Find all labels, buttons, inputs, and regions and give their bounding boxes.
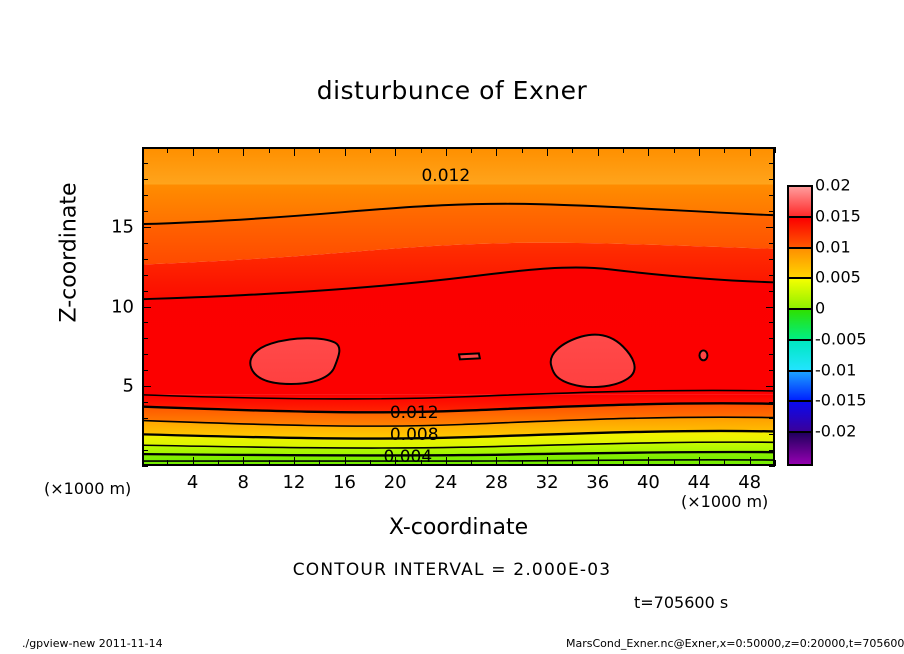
y-tick-left xyxy=(142,386,151,387)
colorbar-band xyxy=(789,218,811,249)
x-tick-bottom xyxy=(648,457,649,466)
x-tick-bottom xyxy=(724,460,725,466)
y-tick-left xyxy=(142,354,148,355)
x-tick-bottom xyxy=(522,460,523,466)
y-tick-right xyxy=(769,466,775,467)
x-tick-top xyxy=(623,147,624,153)
colorbar-band xyxy=(789,341,811,372)
colorbar-tick-label: 0.015 xyxy=(815,206,861,225)
y-tick-left xyxy=(142,179,148,180)
y-tick-right xyxy=(769,147,775,148)
x-tick-bottom xyxy=(446,457,447,466)
y-tick-right xyxy=(766,227,775,228)
x-tick-top xyxy=(471,147,472,153)
x-tick-label: 20 xyxy=(384,472,407,493)
y-tick-left xyxy=(142,322,148,323)
y-tick-right xyxy=(766,386,775,387)
x-tick-top xyxy=(243,147,244,156)
x-tick-bottom xyxy=(167,460,168,466)
contour-label: 0.008 xyxy=(390,425,439,445)
colorbar-tick-label: -0.005 xyxy=(815,329,867,348)
x-tick-bottom xyxy=(699,457,700,466)
y-tick-right xyxy=(766,307,775,308)
y-tick-left xyxy=(142,243,148,244)
y-axis-title: Z-coordinate xyxy=(57,143,82,363)
x-tick-bottom xyxy=(623,460,624,466)
x-tick-top xyxy=(522,147,523,153)
x-tick-top xyxy=(699,147,700,156)
y-tick-label: 10 xyxy=(94,296,134,317)
colorbar-tick-label: -0.01 xyxy=(815,360,856,379)
x-axis-unit-right: (×1000 m) xyxy=(681,492,768,511)
y-tick-left xyxy=(142,147,148,148)
x-tick-top xyxy=(572,147,573,153)
y-tick-left xyxy=(142,402,148,403)
x-tick-bottom xyxy=(269,460,270,466)
x-tick-top xyxy=(294,147,295,156)
y-tick-left xyxy=(142,338,148,339)
x-tick-top xyxy=(648,147,649,156)
x-tick-bottom xyxy=(471,460,472,466)
y-tick-right xyxy=(769,450,775,451)
y-tick-left xyxy=(142,259,148,260)
y-tick-right xyxy=(769,322,775,323)
y-tick-label: 15 xyxy=(94,216,134,237)
colorbar-tick-label: 0.02 xyxy=(815,176,851,195)
x-tick-label: 16 xyxy=(333,472,356,493)
y-tick-right xyxy=(769,418,775,419)
x-tick-label: 40 xyxy=(637,472,660,493)
y-tick-right xyxy=(769,291,775,292)
colorbar-band xyxy=(789,433,811,464)
y-tick-left xyxy=(142,227,151,228)
y-tick-label: 5 xyxy=(94,376,134,397)
colorbar-band xyxy=(789,310,811,341)
x-tick-top xyxy=(598,147,599,156)
colorbar-band xyxy=(789,402,811,433)
y-tick-left xyxy=(142,450,148,451)
x-tick-bottom xyxy=(319,460,320,466)
x-tick-bottom xyxy=(674,460,675,466)
x-tick-bottom xyxy=(775,460,776,466)
contour-label: 0.012 xyxy=(390,403,439,423)
x-tick-bottom xyxy=(598,457,599,466)
y-tick-left xyxy=(142,434,148,435)
x-tick-label: 8 xyxy=(238,472,249,493)
x-tick-top xyxy=(496,147,497,156)
y-tick-left xyxy=(142,370,148,371)
contour-label: 0.012 xyxy=(421,166,470,186)
page-title: disturbunce of Exner xyxy=(0,76,904,105)
y-tick-left xyxy=(142,418,148,419)
colorbar xyxy=(787,185,813,466)
x-tick-label: 12 xyxy=(282,472,305,493)
x-tick-top xyxy=(370,147,371,153)
x-tick-top xyxy=(395,147,396,156)
x-tick-bottom xyxy=(193,457,194,466)
y-tick-left xyxy=(142,307,151,308)
footer-source: MarsCond_Exner.nc@Exner,x=0:50000,z=0:20… xyxy=(566,637,904,650)
x-tick-top xyxy=(750,147,751,156)
y-tick-right xyxy=(769,163,775,164)
contour-interval-note: CONTOUR INTERVAL = 2.000E-03 xyxy=(0,560,904,580)
y-tick-right xyxy=(769,179,775,180)
colorbar-band xyxy=(789,279,811,310)
x-tick-bottom xyxy=(547,457,548,466)
x-tick-top xyxy=(193,147,194,156)
colorbar-tick-label: 0 xyxy=(815,299,825,318)
colorbar-tick-label: -0.015 xyxy=(815,391,867,410)
y-tick-right xyxy=(769,434,775,435)
x-tick-top xyxy=(724,147,725,153)
time-label: t=705600 s xyxy=(634,593,728,612)
x-tick-top xyxy=(269,147,270,153)
contour-max-blob-small-center xyxy=(459,353,480,359)
x-tick-top xyxy=(446,147,447,156)
plot-area xyxy=(142,147,775,466)
x-tick-top xyxy=(547,147,548,156)
x-tick-top xyxy=(167,147,168,153)
y-tick-right xyxy=(769,243,775,244)
x-tick-bottom xyxy=(243,457,244,466)
y-tick-left xyxy=(142,195,148,196)
colorbar-band xyxy=(789,187,811,218)
x-tick-label: 4 xyxy=(187,472,198,493)
x-tick-label: 32 xyxy=(536,472,559,493)
y-tick-right xyxy=(769,402,775,403)
x-tick-top xyxy=(345,147,346,156)
y-tick-right xyxy=(769,259,775,260)
x-tick-top xyxy=(775,147,776,153)
y-tick-left xyxy=(142,466,148,467)
x-tick-bottom xyxy=(496,457,497,466)
x-tick-label: 44 xyxy=(688,472,711,493)
footer-command: ./gpview-new 2011-11-14 xyxy=(22,637,163,650)
x-tick-bottom xyxy=(750,457,751,466)
y-tick-right xyxy=(769,370,775,371)
x-tick-label: 28 xyxy=(485,472,508,493)
y-tick-left xyxy=(142,275,148,276)
y-tick-right xyxy=(769,211,775,212)
x-tick-top xyxy=(674,147,675,153)
y-tick-right xyxy=(769,195,775,196)
y-tick-right xyxy=(769,354,775,355)
colorbar-band xyxy=(789,249,811,280)
x-tick-top xyxy=(218,147,219,153)
x-tick-label: 36 xyxy=(586,472,609,493)
x-tick-top xyxy=(319,147,320,153)
x-tick-bottom xyxy=(345,457,346,466)
x-tick-bottom xyxy=(572,460,573,466)
x-tick-top xyxy=(421,147,422,153)
x-tick-label: 24 xyxy=(434,472,457,493)
contour-max-blob-small-right xyxy=(699,350,707,360)
contour-label: 0.004 xyxy=(384,447,433,467)
colorbar-tick-label: 0.005 xyxy=(815,268,861,287)
x-tick-bottom xyxy=(370,460,371,466)
x-tick-bottom xyxy=(218,460,219,466)
x-tick-bottom xyxy=(294,457,295,466)
colorbar-tick-label: 0.01 xyxy=(815,237,851,256)
x-axis-title: X-coordinate xyxy=(142,515,775,540)
y-tick-left xyxy=(142,291,148,292)
colorbar-tick-label: -0.02 xyxy=(815,422,856,441)
x-tick-label: 48 xyxy=(738,472,761,493)
y-tick-left xyxy=(142,163,148,164)
y-tick-right xyxy=(769,338,775,339)
y-tick-left xyxy=(142,211,148,212)
y-tick-right xyxy=(769,275,775,276)
colorbar-band xyxy=(789,372,811,403)
contour-plot xyxy=(144,149,773,464)
x-axis-unit-left: (×1000 m) xyxy=(44,479,131,498)
